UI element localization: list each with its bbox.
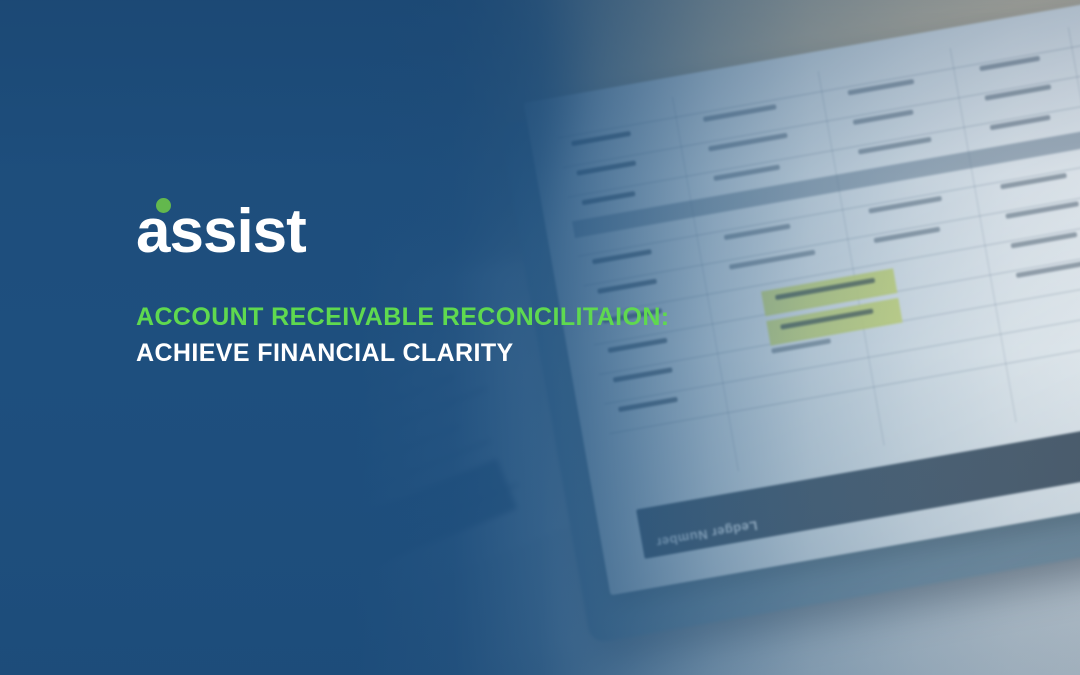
marketing-banner: Ledger Number assist ACCOUNT RECEIVABLE …	[0, 0, 1080, 675]
green-dot-icon	[156, 198, 171, 213]
headline-primary: ACCOUNT RECEIVABLE RECONCILITAION:	[136, 301, 670, 335]
headline-secondary: ACHIEVE FINANCIAL CLARITY	[136, 337, 670, 371]
logo-mark: assist	[136, 201, 306, 263]
assist-logo[interactable]: assist	[136, 205, 670, 263]
content-block: assist ACCOUNT RECEIVABLE RECONCILITAION…	[136, 205, 670, 370]
